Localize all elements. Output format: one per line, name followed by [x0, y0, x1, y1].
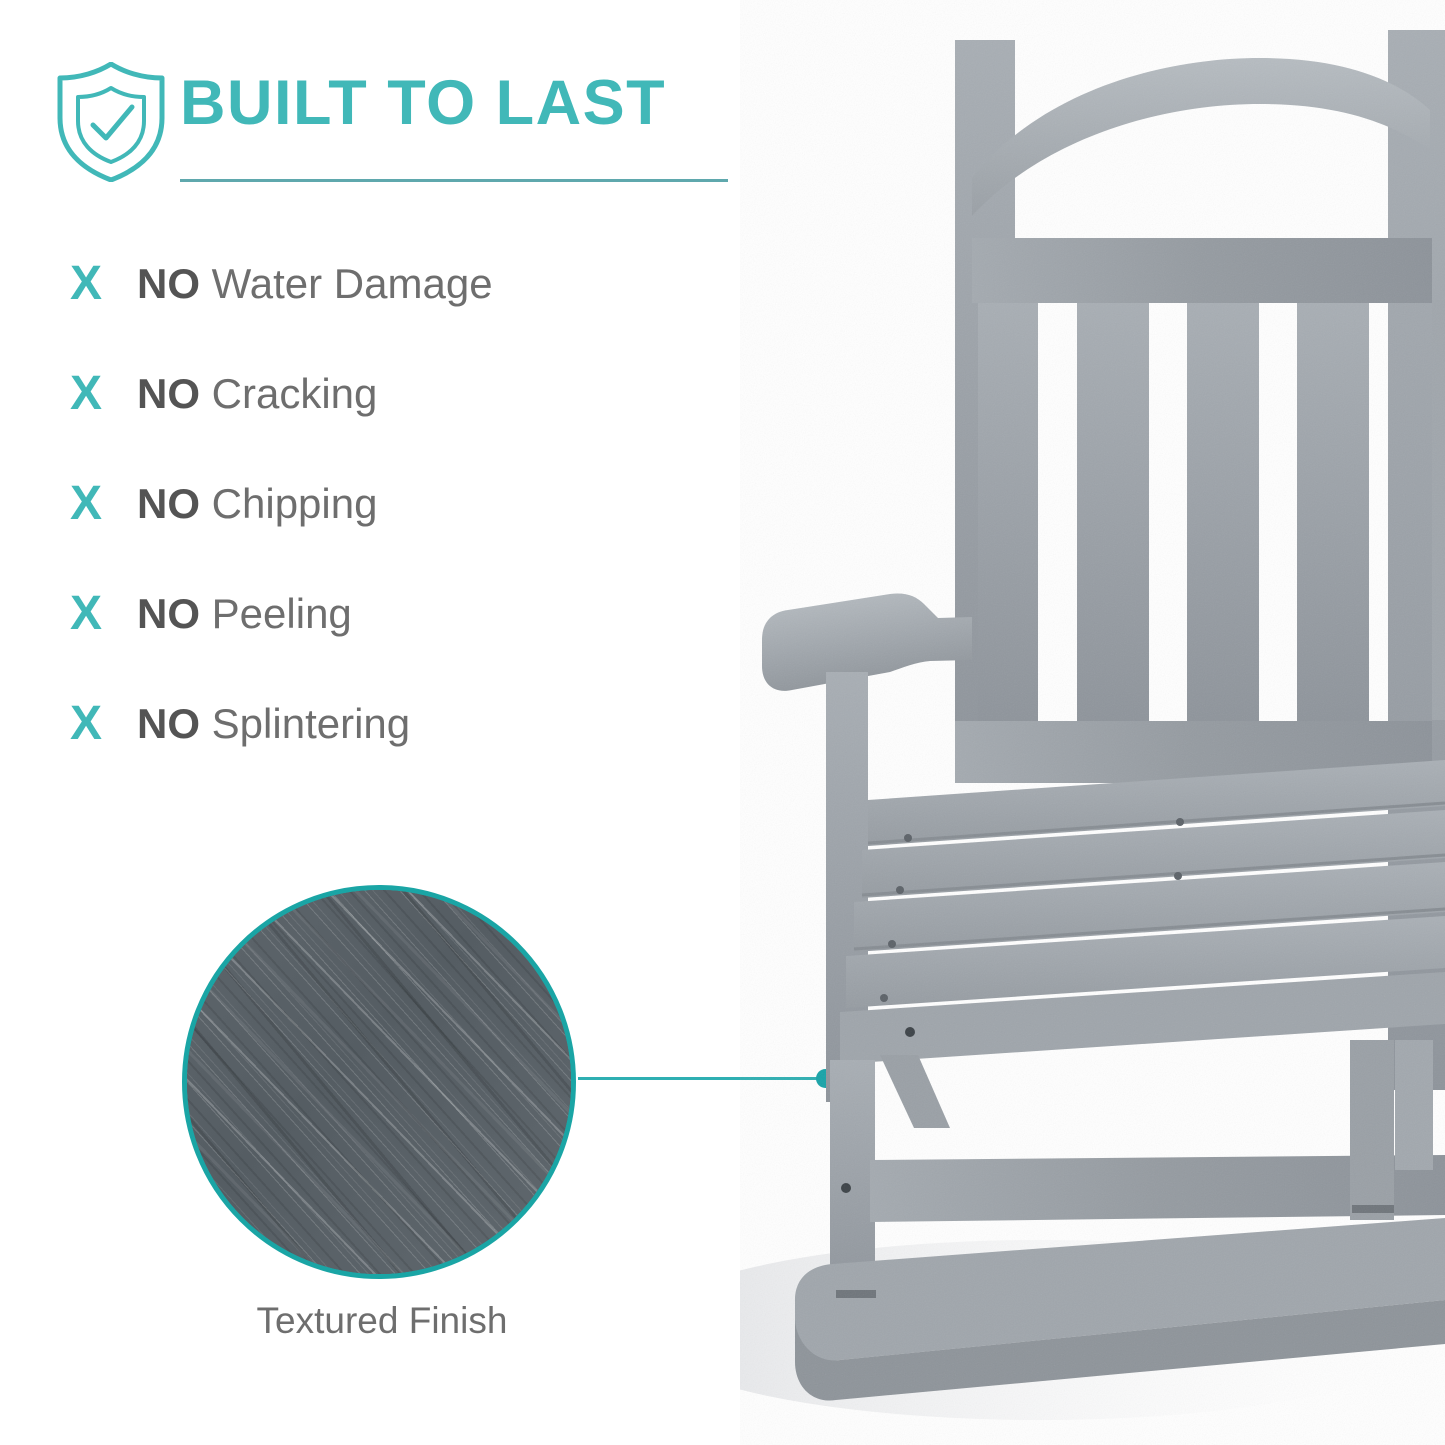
- benefit-label: Water Damage: [212, 260, 493, 307]
- x-mark-icon: X: [62, 260, 110, 308]
- benefit-text: NO Splintering: [137, 698, 410, 750]
- benefit-text: NO Chipping: [137, 478, 377, 530]
- benefits-list: X NO Water Damage X NO Cracking X NO Chi…: [52, 258, 752, 808]
- title-divider: [180, 179, 728, 182]
- info-panel: BUILT TO LAST X NO Water Damage X NO Cra…: [0, 0, 840, 1445]
- benefit-no-label: NO: [137, 590, 200, 637]
- benefit-item-cracking: X NO Cracking: [52, 368, 752, 478]
- x-mark-icon: X: [62, 370, 110, 418]
- header: BUILT TO LAST: [52, 62, 752, 192]
- benefit-no-label: NO: [137, 370, 200, 417]
- x-mark-icon: X: [62, 480, 110, 528]
- texture-caption: Textured Finish: [172, 1300, 592, 1342]
- chair-texture-overlay: [740, 0, 1445, 1445]
- benefit-text: NO Peeling: [137, 588, 352, 640]
- shield-check-icon: [52, 62, 170, 182]
- benefit-item-chipping: X NO Chipping: [52, 478, 752, 588]
- page-title: BUILT TO LAST: [180, 72, 666, 135]
- benefit-no-label: NO: [137, 700, 200, 747]
- benefit-text: NO Cracking: [137, 368, 377, 420]
- product-image-rocking-chair: [740, 0, 1445, 1445]
- benefit-label: Chipping: [212, 480, 378, 527]
- benefit-no-label: NO: [137, 480, 200, 527]
- benefit-label: Peeling: [212, 590, 352, 637]
- texture-zoom-circle: [182, 885, 576, 1279]
- x-mark-icon: X: [62, 700, 110, 748]
- benefit-item-peeling: X NO Peeling: [52, 588, 752, 698]
- benefit-text: NO Water Damage: [137, 258, 493, 310]
- benefit-label: Splintering: [212, 700, 410, 747]
- benefit-item-splintering: X NO Splintering: [52, 698, 752, 808]
- benefit-item-water-damage: X NO Water Damage: [52, 258, 752, 368]
- texture-swatch: [182, 885, 576, 1279]
- x-mark-icon: X: [62, 590, 110, 638]
- benefit-no-label: NO: [137, 260, 200, 307]
- benefit-label: Cracking: [212, 370, 378, 417]
